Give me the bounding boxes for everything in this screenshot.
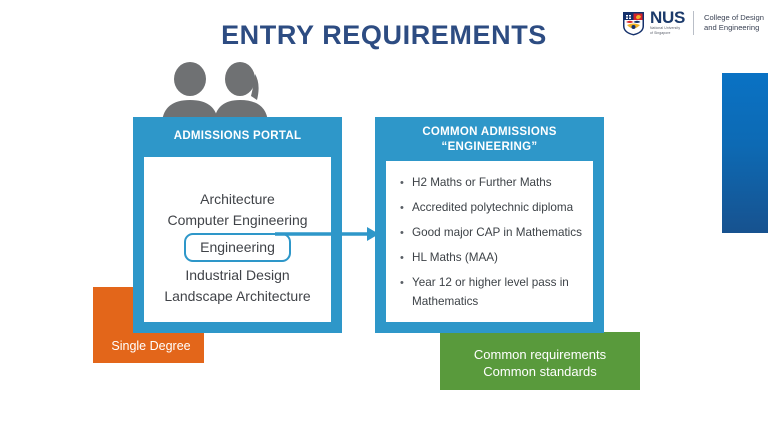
list-item: • H2 Maths or Further Maths xyxy=(400,175,585,191)
bullet-marker-icon: • xyxy=(400,250,412,266)
common-requirements-line2: Common standards xyxy=(440,363,640,380)
slide-canvas: NUS National University of Singapore Col… xyxy=(0,0,768,432)
bullet-text: Year 12 or higher level pass in Mathemat… xyxy=(412,275,585,313)
bullet-marker-icon: • xyxy=(400,225,412,241)
people-silhouette-icon xyxy=(160,62,272,122)
single-degree-label: Single Degree xyxy=(98,339,204,353)
bullet-marker-icon: • xyxy=(400,275,412,291)
list-item: Industrial Design xyxy=(144,265,331,286)
list-item: • Year 12 or higher level pass in Mathem… xyxy=(400,275,585,313)
list-item: • Accredited polytechnic diploma xyxy=(400,200,585,216)
page-title: ENTRY REQUIREMENTS xyxy=(0,20,768,51)
list-item: • HL Maths (MAA) xyxy=(400,250,585,266)
common-admissions-panel: COMMON ADMISSIONS “ENGINEERING” • H2 Mat… xyxy=(375,117,604,333)
common-admissions-header-line1: COMMON ADMISSIONS xyxy=(375,125,604,140)
requirements-bullet-list: • H2 Maths or Further Maths • Accredited… xyxy=(400,175,585,322)
common-requirements-line1: Common requirements xyxy=(440,346,640,363)
bullet-marker-icon: • xyxy=(400,175,412,191)
common-admissions-header: COMMON ADMISSIONS “ENGINEERING” xyxy=(375,125,604,155)
list-item: Architecture xyxy=(144,157,331,210)
list-item: • Good major CAP in Mathematics xyxy=(400,225,585,241)
bullet-marker-icon: • xyxy=(400,200,412,216)
edge-accent-bar xyxy=(722,73,768,233)
bullet-text: H2 Maths or Further Maths xyxy=(412,175,585,191)
flow-arrow-icon xyxy=(275,224,380,244)
list-item: Landscape Architecture xyxy=(144,286,331,307)
bullet-text-line2: Mathematics xyxy=(412,291,585,313)
admissions-portal-header: ADMISSIONS PORTAL xyxy=(133,129,342,143)
bullet-text: Accredited polytechnic diploma xyxy=(412,200,585,216)
bullet-text: Good major CAP in Mathematics xyxy=(412,225,585,241)
common-requirements-label: Common requirements Common standards xyxy=(440,346,640,380)
common-admissions-body: • H2 Maths or Further Maths • Accredited… xyxy=(386,161,593,322)
bullet-text: HL Maths (MAA) xyxy=(412,250,585,266)
common-admissions-header-line2: “ENGINEERING” xyxy=(375,140,604,155)
bullet-text-line1: Year 12 or higher level pass in xyxy=(412,276,569,289)
